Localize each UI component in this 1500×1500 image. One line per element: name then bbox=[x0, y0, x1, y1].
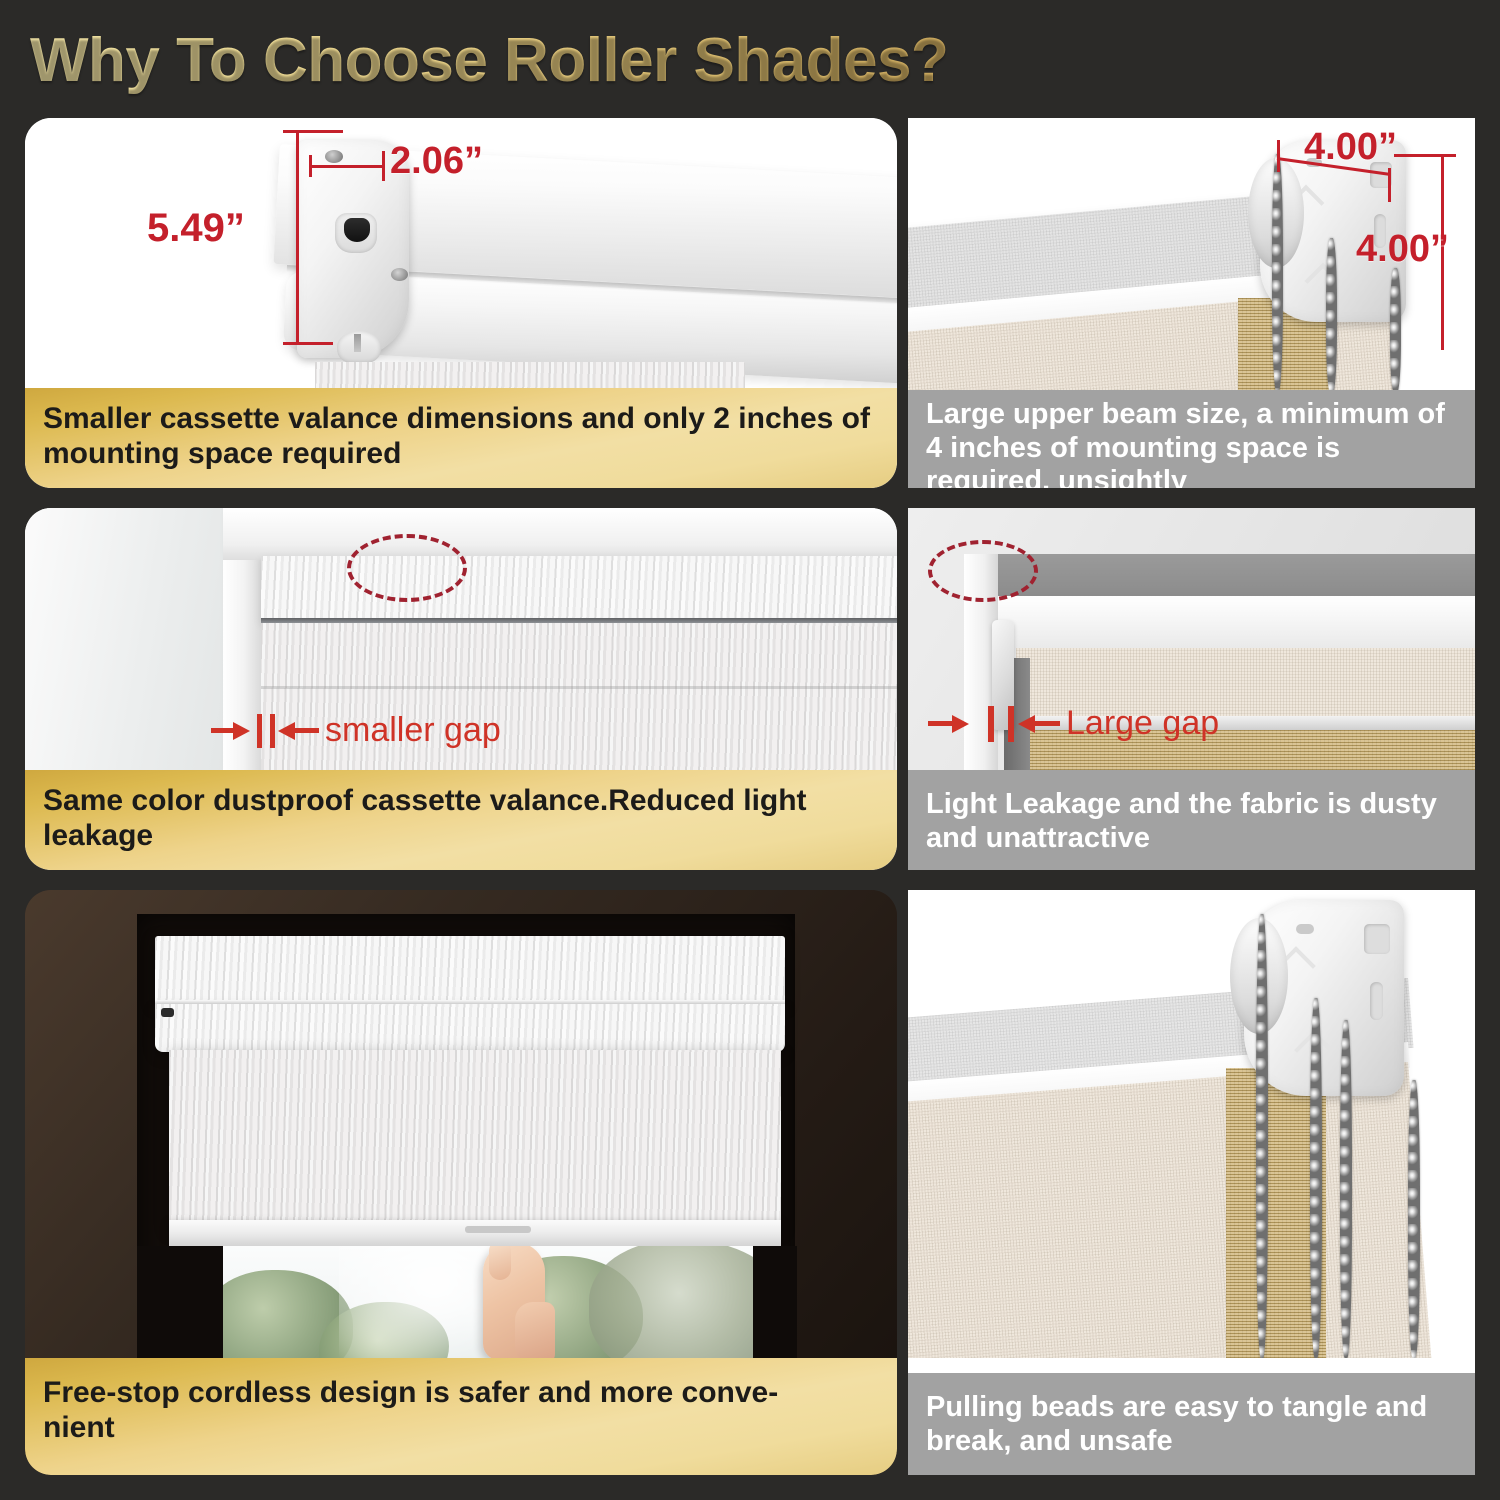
bracket-hole bbox=[1296, 924, 1314, 934]
large-gap-label: Large gap bbox=[1066, 704, 1219, 743]
gap-marker-left bbox=[988, 706, 994, 742]
width-dimension-line bbox=[309, 165, 385, 168]
gap-arrow-right-tail bbox=[295, 728, 319, 733]
gap-highlight-ellipse bbox=[347, 534, 467, 602]
beam-height-label: 4.00” bbox=[1356, 228, 1449, 271]
panel-top-right: 4.00” 4.00” Large upper beam size, a min… bbox=[908, 118, 1475, 488]
gap-marker-right bbox=[270, 714, 275, 748]
bead-chain-middle bbox=[1310, 998, 1322, 1358]
end-cap-screw-top bbox=[325, 150, 343, 163]
gap-arrow-right-tail bbox=[1034, 721, 1060, 726]
beam-width-tick-left bbox=[1277, 140, 1280, 172]
hand-finger bbox=[489, 1246, 511, 1280]
hand-wrist bbox=[515, 1302, 555, 1358]
shade-fabric-tail bbox=[315, 362, 745, 388]
page-title: Why To Choose Roller Shades? bbox=[30, 22, 1230, 100]
panel-bottom-left-image bbox=[25, 890, 897, 1358]
infographic-root: Why To Choose Roller Shades? bbox=[0, 0, 1500, 1500]
gap-arrow-right-head bbox=[1018, 715, 1035, 733]
panel-bottom-left-caption: Free-stop cordless design is safer and m… bbox=[25, 1358, 897, 1475]
end-cap-screw-mid bbox=[391, 268, 408, 281]
bead-chain-left bbox=[1272, 154, 1283, 390]
caption-line-2: nient bbox=[43, 1411, 881, 1446]
tree-foliage-right bbox=[589, 1246, 755, 1358]
height-dimension-label: 5.49” bbox=[147, 206, 245, 251]
gap-arrow-left-tail bbox=[211, 728, 235, 733]
panel-top-left-caption: Smaller cassette valance dimensions and … bbox=[25, 388, 897, 488]
wall-left bbox=[25, 508, 240, 770]
panel-bottom-right-caption: Pulling beads are easy to tangle and bre… bbox=[908, 1373, 1475, 1475]
window-frame-right bbox=[753, 1246, 797, 1358]
valance-end-detail bbox=[161, 1008, 174, 1017]
hanging-fabric bbox=[908, 1062, 1432, 1358]
panel-bottom-right-image bbox=[908, 890, 1475, 1358]
gap-arrow-left-head bbox=[952, 715, 969, 733]
shade-fabric-panel bbox=[169, 1050, 781, 1228]
panel-bottom-right: Pulling beads are easy to tangle and bre… bbox=[908, 890, 1475, 1475]
end-cap-pin-notch bbox=[354, 334, 361, 352]
bracket-notch-top bbox=[1364, 924, 1390, 954]
panel-bottom-left: Free-stop cordless design is safer and m… bbox=[25, 890, 897, 1475]
width-dimension-label: 2.06” bbox=[390, 140, 483, 183]
bracket-notch-side bbox=[1370, 982, 1383, 1020]
panel-mid-right: Large gap Light Leakage and the fabric i… bbox=[908, 508, 1475, 870]
gap-marker-right bbox=[1008, 706, 1014, 742]
gap-highlight-ellipse bbox=[928, 540, 1038, 602]
panel-top-left-image: 5.49” 2.06” bbox=[25, 118, 897, 388]
panel-mid-left: smaller gap Same color dustproof cassett… bbox=[25, 508, 897, 870]
gap-marker-left bbox=[257, 714, 262, 748]
panel-mid-left-image: smaller gap bbox=[25, 508, 897, 770]
panel-top-right-image: 4.00” 4.00” bbox=[908, 118, 1475, 390]
bead-chain-right bbox=[1326, 238, 1337, 390]
panel-mid-right-caption: Light Leakage and the fabric is dusty an… bbox=[908, 770, 1475, 870]
window-frame-left bbox=[137, 1246, 223, 1358]
bead-chain-right bbox=[1408, 1080, 1420, 1358]
gap-arrow-right-head bbox=[278, 722, 295, 740]
shade-bottom-rail bbox=[169, 1220, 781, 1246]
height-dimension-tick-top bbox=[283, 130, 343, 133]
ceiling-shadow-band bbox=[986, 554, 1475, 596]
bead-chain-middle-2 bbox=[1340, 1020, 1352, 1358]
panel-top-right-caption: Large upper beam size, a minimum of 4 in… bbox=[908, 390, 1475, 488]
cassette-valance bbox=[155, 936, 785, 1002]
gap-arrow-left-head bbox=[233, 722, 250, 740]
valance-lower-lip bbox=[155, 1004, 785, 1052]
bead-chain-left bbox=[1256, 914, 1268, 1358]
roller-barrel bbox=[998, 596, 1475, 654]
window-frame-top bbox=[223, 508, 897, 560]
beam-height-tick-top bbox=[1394, 154, 1456, 157]
height-dimension-tick-bottom bbox=[283, 342, 333, 345]
bead-chain-far-right bbox=[1390, 268, 1401, 390]
end-cap-clutch-slot bbox=[344, 218, 370, 242]
caption-line-1: Free-stop cordless design is safer and m… bbox=[43, 1376, 881, 1411]
window-view bbox=[221, 1246, 755, 1358]
fabric-fold-line bbox=[261, 686, 897, 689]
beam-width-label: 4.00” bbox=[1304, 126, 1397, 169]
bottom-rail-grip bbox=[465, 1226, 531, 1233]
panel-top-left: 5.49” 2.06” Smaller cassette valance dim… bbox=[25, 118, 897, 488]
gap-arrow-left-tail bbox=[928, 721, 954, 726]
smaller-gap-label: smaller gap bbox=[325, 711, 501, 750]
height-dimension-line bbox=[296, 130, 299, 345]
panel-mid-left-caption: Same color dustproof cassette valance.Re… bbox=[25, 770, 897, 870]
panel-mid-right-image: Large gap bbox=[908, 508, 1475, 770]
